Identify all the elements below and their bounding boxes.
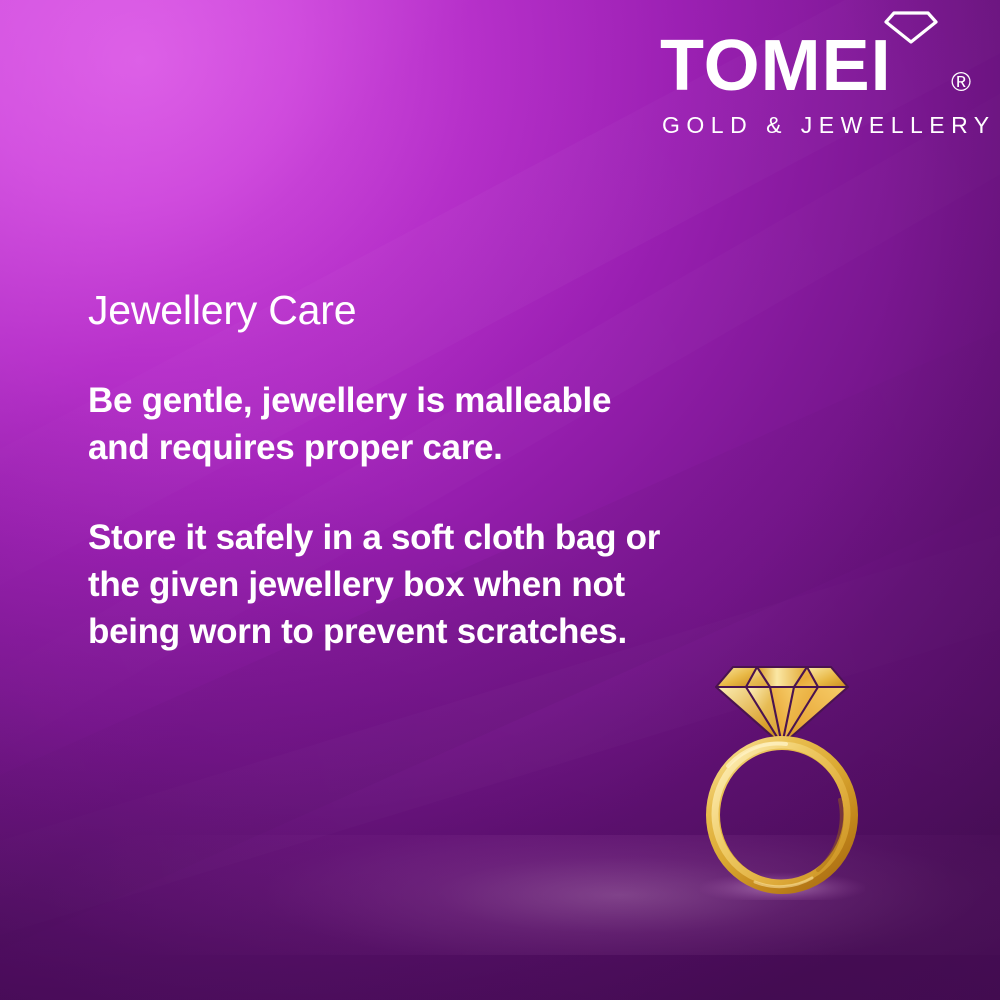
gold-diamond-icon bbox=[716, 667, 848, 745]
brand-wordmark: TOMEI ® bbox=[648, 8, 978, 102]
brand-name: TOMEI bbox=[660, 26, 892, 106]
copy-block: Jewellery Care Be gentle, jewellery is m… bbox=[88, 286, 668, 655]
care-paragraph-2: Store it safely in a soft cloth bag or t… bbox=[88, 515, 668, 655]
brand-logo: TOMEI ® GOLD & JEWELLERY bbox=[648, 8, 978, 139]
diamond-ring-illustration bbox=[700, 650, 865, 900]
care-paragraph-1: Be gentle, jewellery is malleable and re… bbox=[88, 378, 668, 471]
poster-canvas: TOMEI ® GOLD & JEWELLERY Jewellery Care … bbox=[0, 0, 1000, 1000]
registered-trademark-icon: ® bbox=[951, 69, 972, 96]
page-title: Jewellery Care bbox=[88, 286, 668, 334]
gold-ring-icon bbox=[713, 743, 851, 887]
brand-tagline: GOLD & JEWELLERY bbox=[648, 112, 978, 139]
